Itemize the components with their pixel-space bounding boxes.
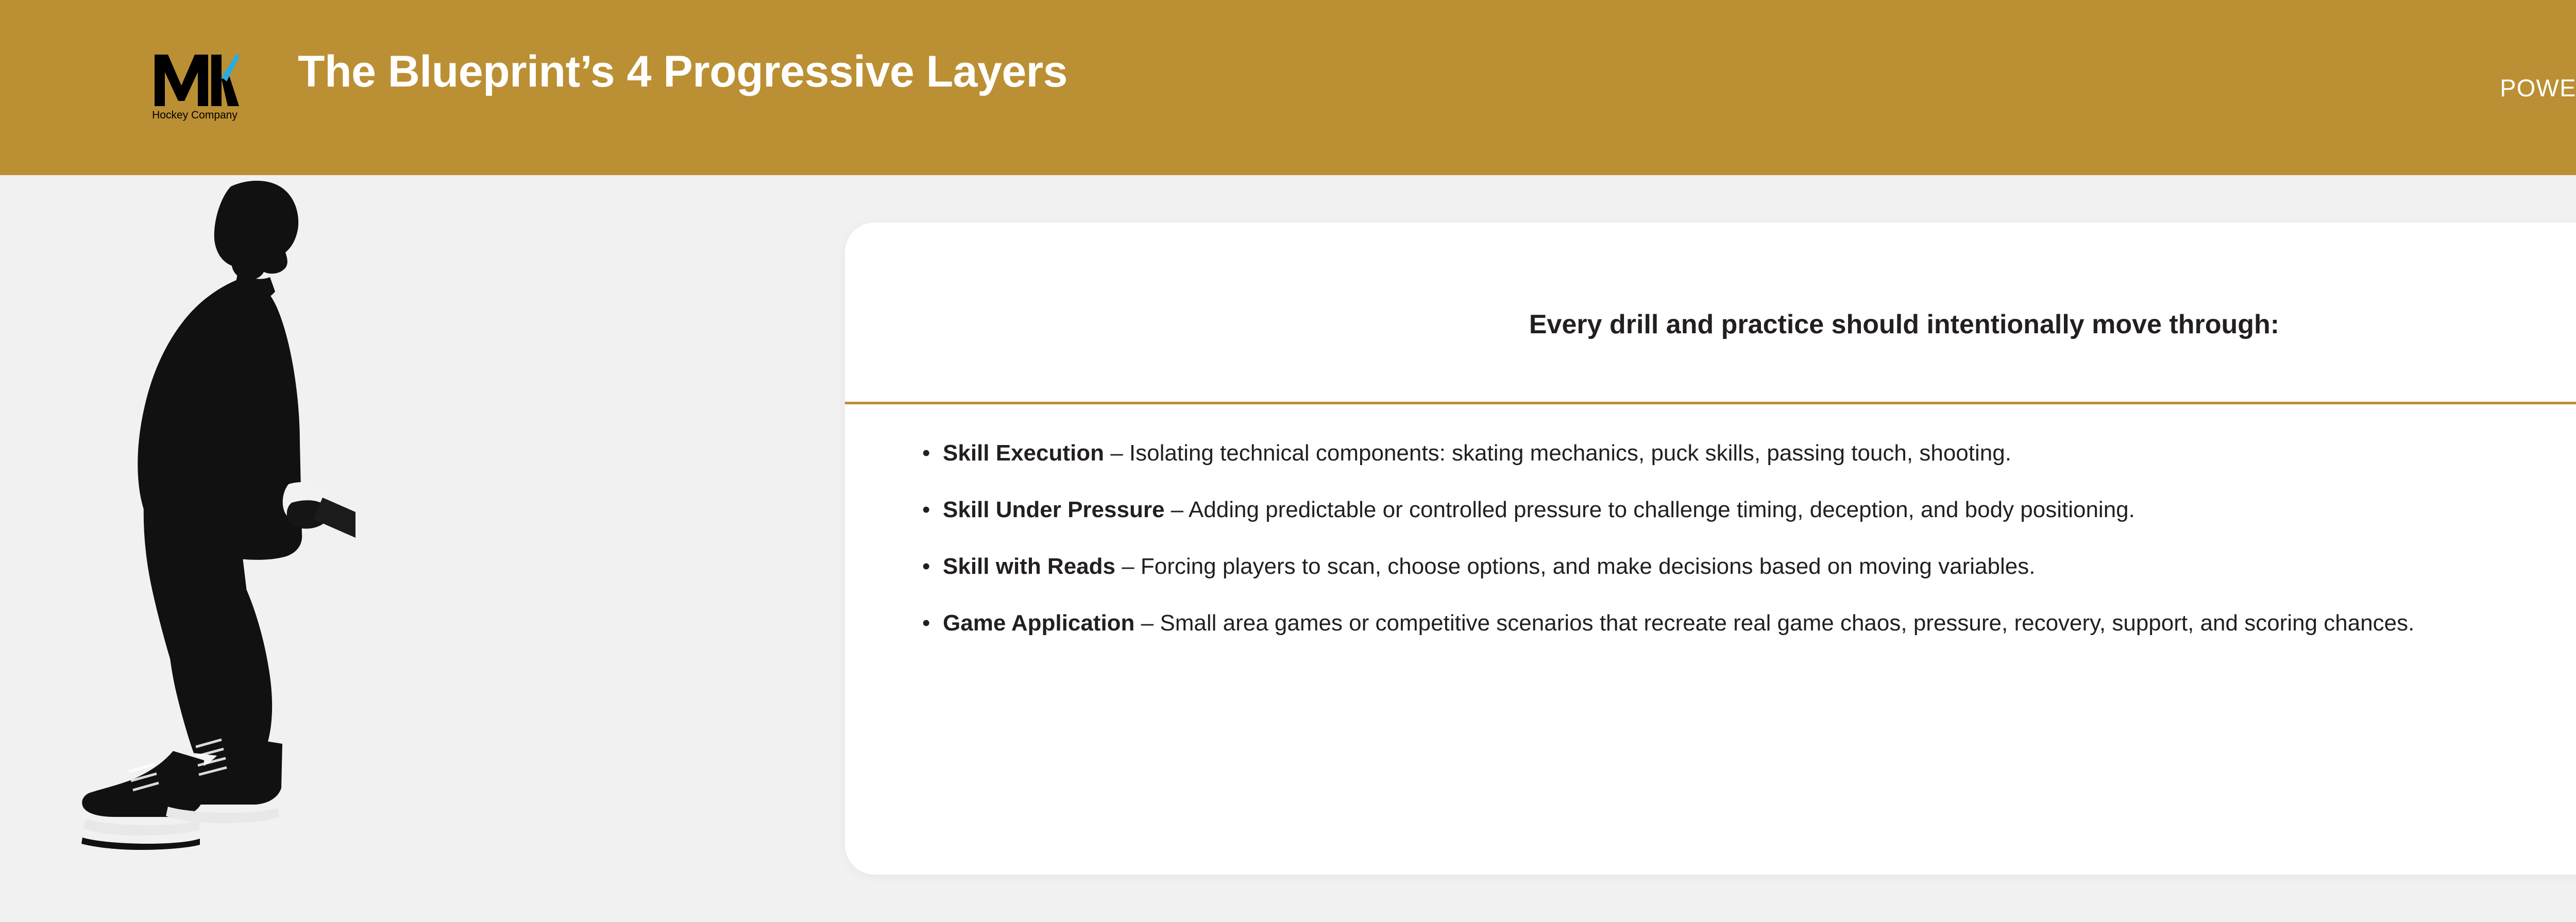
list-item-description: – Forcing players to scan, choose option… [1115, 554, 2035, 579]
list-item-description: – Small area games or competitive scenar… [1134, 610, 2414, 636]
list-item-term: Skill with Reads [943, 554, 1115, 579]
list-item-term: Game Application [943, 610, 1134, 636]
card-divider [845, 402, 2576, 404]
progressive-layers-list: • Skill Execution – Isolating technical … [922, 434, 2576, 660]
bullet-marker-icon: • [922, 547, 943, 586]
bullet-marker-icon: • [922, 604, 943, 643]
list-item-description: – Isolating technical components: skatin… [1104, 440, 2011, 466]
list-item-term: Skill Under Pressure [943, 497, 1164, 522]
list-item: • Skill Under Pressure – Adding predicta… [922, 490, 2576, 530]
powered-by-group: POWERED BY: COACHTHEM [2500, 54, 2576, 122]
list-item-text: Skill with Reads – Forcing players to sc… [943, 547, 2576, 586]
list-item: • Game Application – Small area games or… [922, 604, 2576, 643]
card-heading: Every drill and practice should intentio… [845, 309, 2576, 340]
hockey-coach-photo: JETSPEED CCM [67, 175, 355, 922]
list-item-text: Skill Execution – Isolating technical co… [943, 434, 2576, 473]
svg-text:Hockey Company: Hockey Company [152, 109, 238, 121]
list-item: • Skill with Reads – Forcing players to … [922, 547, 2576, 586]
bullet-marker-icon: • [922, 490, 943, 530]
blueprint-layers-card: Every drill and practice should intentio… [845, 223, 2576, 875]
list-item-description: – Adding predictable or controlled press… [1164, 497, 2134, 522]
header-bar: Hockey Company The Blueprint’s 4 Progres… [0, 0, 2576, 175]
mk-hockey-company-logo[interactable]: Hockey Company [150, 45, 239, 124]
list-item-text: Skill Under Pressure – Adding predictabl… [943, 490, 2576, 530]
list-item-term: Skill Execution [943, 440, 1104, 466]
list-item-text: Game Application – Small area games or c… [943, 604, 2576, 643]
list-item: • Skill Execution – Isolating technical … [922, 434, 2576, 473]
bullet-marker-icon: • [922, 434, 943, 473]
page-title: The Blueprint’s 4 Progressive Layers [298, 49, 1067, 94]
powered-by-label: POWERED BY: [2500, 74, 2576, 102]
